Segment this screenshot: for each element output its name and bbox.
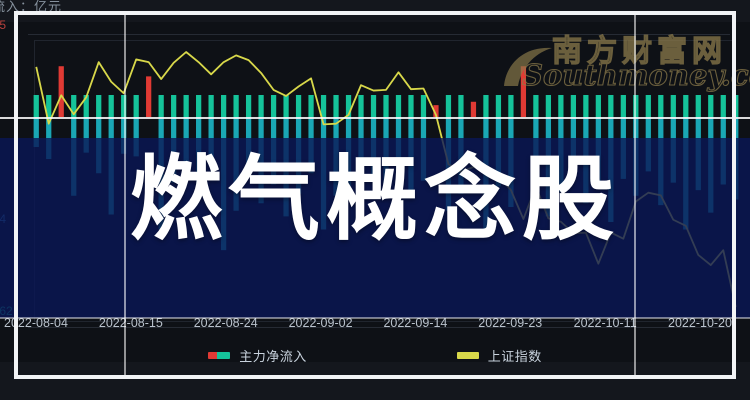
x-axis-tick: 2022-10-20 (668, 316, 732, 330)
chart-bar (583, 117, 588, 203)
chart-bar-cap (308, 95, 313, 117)
chart-bar-cap (383, 95, 388, 117)
chart-bar (458, 117, 463, 194)
chart-bar-cap (209, 95, 214, 117)
y-axis-tick-0: 395 (0, 18, 6, 32)
chart-bar (134, 117, 139, 156)
chart-bar (346, 117, 351, 186)
chart-bar-cap (583, 95, 588, 117)
chart-bar (608, 117, 613, 222)
chart-bar (71, 117, 76, 196)
chart-bar (696, 117, 701, 190)
chart-bar-cap (446, 95, 451, 117)
chart-bar-cap (421, 95, 426, 117)
chart-bar-cap (358, 95, 363, 117)
chart-bar-cap (633, 95, 638, 117)
chart-bar-cap (608, 95, 613, 117)
chart-screenshot: 流入：亿元 395 0 25 644 1262 2022-08-042022-0… (0, 0, 750, 400)
chart-legend: 主力净流入 上证指数 (0, 344, 750, 366)
chart-bar (196, 117, 201, 188)
chart-bar-cap (708, 95, 713, 117)
chart-bar (658, 117, 663, 205)
chart-bar-cap (246, 95, 251, 117)
chart-bar (308, 117, 313, 173)
chart-bar (633, 117, 638, 196)
chart-bar (408, 117, 413, 198)
chart-bar (271, 117, 276, 185)
chart-bar-cap (258, 95, 263, 117)
chart-bar (321, 117, 326, 230)
chart-bar-cap (533, 95, 538, 117)
chart-bar-cap (333, 95, 338, 117)
x-axis-tick: 2022-08-04 (4, 316, 68, 330)
chart-bar-cap (733, 95, 738, 117)
selection-edge-bottom (32, 375, 718, 379)
chart-bar (159, 117, 164, 230)
chart-bar-cap (96, 95, 101, 117)
chart-bar-cap (483, 95, 488, 117)
chart-bar-cap (546, 95, 551, 117)
unit-caption: 流入：亿元 (0, 0, 62, 15)
chart-bar (171, 117, 176, 183)
chart-bar (109, 117, 114, 215)
chart-bar (258, 117, 263, 203)
chart-bar-cap (558, 95, 563, 117)
chart-bar (558, 117, 563, 192)
chart-bar-cap (321, 95, 326, 117)
chart-bar (546, 117, 551, 216)
chart-bar (371, 117, 376, 177)
chart-bar (683, 117, 688, 230)
chart-panel (0, 22, 750, 362)
chart-bar (533, 117, 538, 183)
chart-bar (733, 117, 738, 200)
chart-bar-cap (296, 95, 301, 117)
x-axis-tick: 2022-08-24 (194, 316, 258, 330)
chart-bar-cap (283, 95, 288, 117)
legend-swatch-bar-icon (208, 352, 230, 359)
chart-bar-cap (671, 95, 676, 117)
chart-bar-cap (596, 95, 601, 117)
chart-bar-cap (396, 95, 401, 117)
chart-bar (396, 117, 401, 171)
chart-bar (121, 117, 126, 154)
chart-bar (646, 117, 651, 171)
chart-bar (521, 66, 526, 117)
chart-bar-cap (696, 95, 701, 117)
chart-bar-cap (496, 95, 501, 117)
chart-bar-cap (233, 95, 238, 117)
chart-bar-cap (184, 95, 189, 117)
chart-bar (471, 102, 476, 117)
x-axis-tick: 2022-09-02 (289, 316, 353, 330)
legend-label-sse-index: 上证指数 (488, 346, 542, 365)
chart-bar-cap (683, 95, 688, 117)
chart-bar (708, 117, 713, 213)
chart-bar-cap (134, 95, 139, 117)
legend-label-main-inflow: 主力净流入 (239, 346, 307, 365)
y-axis-tick-3: 644 (0, 212, 6, 226)
chart-bar (571, 117, 576, 173)
legend-item-sse-index[interactable]: 上证指数 (457, 346, 542, 365)
x-axis-labels: 2022-08-042022-08-152022-08-242022-09-02… (0, 316, 750, 338)
chart-bar-cap (458, 95, 463, 117)
chart-bar (483, 117, 488, 233)
chart-bar (59, 66, 64, 117)
chart-bar (358, 117, 363, 205)
chart-bar-cap (159, 95, 164, 117)
chart-bar (721, 117, 726, 185)
chart-bar-cap (196, 95, 201, 117)
chart-bar (333, 117, 338, 196)
chart-bar-cap (371, 95, 376, 117)
chart-bar (34, 117, 39, 147)
x-axis-tick: 2022-08-15 (99, 316, 163, 330)
chart-bar (421, 117, 426, 181)
chart-plot-area (0, 22, 750, 362)
chart-bar-cap (109, 95, 114, 117)
chart-bar-cap (271, 95, 276, 117)
chart-bar-cap (221, 95, 226, 117)
selection-edge-top (32, 11, 718, 15)
chart-bar-cap (658, 95, 663, 117)
y-axis-labels: 395 0 25 644 1262 (0, 22, 34, 340)
x-axis-tick: 2022-09-23 (478, 316, 542, 330)
chart-bar (209, 117, 214, 162)
legend-swatch-line-icon (457, 352, 479, 359)
chart-bar-cap (508, 95, 513, 117)
legend-item-main-inflow[interactable]: 主力净流入 (208, 346, 307, 365)
chart-bar-cap (646, 95, 651, 117)
chart-bar-cap (408, 95, 413, 117)
chart-bar (221, 117, 226, 250)
chart-bar-cap (571, 95, 576, 117)
chart-bar-cap (171, 95, 176, 117)
chart-bar (233, 117, 238, 211)
chart-bar-cap (34, 95, 39, 117)
x-axis-tick: 2022-09-14 (383, 316, 447, 330)
chart-bar (596, 117, 601, 188)
chart-bar (184, 117, 189, 170)
chart-bar-cap (621, 95, 626, 117)
chart-bar (283, 117, 288, 216)
chart-bar (84, 117, 89, 153)
chart-bar-cap (121, 95, 126, 117)
chart-bar (296, 117, 301, 194)
chart-bar (246, 117, 251, 177)
chart-bar (146, 76, 151, 117)
chart-bar-cap (721, 95, 726, 117)
chart-bar (383, 117, 388, 188)
chart-bar (621, 117, 626, 179)
chart-bar (671, 117, 676, 183)
x-axis-tick: 2022-10-11 (574, 316, 637, 330)
chart-bar (96, 117, 101, 173)
